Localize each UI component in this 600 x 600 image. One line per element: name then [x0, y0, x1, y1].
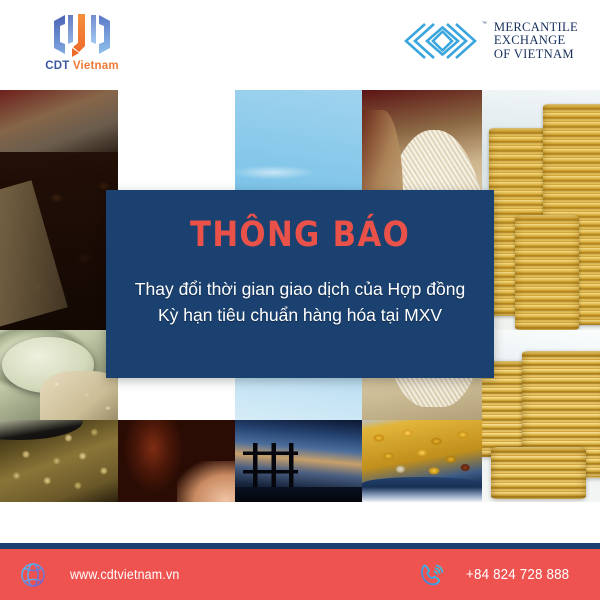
cdt-wordmark-primary: CDT	[45, 60, 69, 72]
poster-header: CDT Vietnam ™ MERCANTIL	[0, 0, 600, 90]
mxv-wordmark-line2: EXCHANGE	[494, 34, 578, 48]
phone-call-icon	[416, 560, 446, 590]
collage-column-1	[0, 90, 118, 502]
mxv-logo[interactable]: ™ MERCANTILE EXCHANGE OF VIETNAM	[403, 17, 578, 65]
announcement-poster: CDT Vietnam ™ MERCANTIL	[0, 0, 600, 600]
footer-phone[interactable]: +84 824 728 888	[416, 560, 578, 590]
corn-kernels-bowl-photo	[362, 420, 482, 502]
globe-icon	[18, 560, 48, 590]
announcement-title: THÔNG BÁO	[190, 216, 410, 254]
mxv-wordmark-line3: OF VIETNAM	[494, 48, 578, 62]
coffee-beans-photo	[0, 90, 118, 330]
announcement-box: THÔNG BÁO Thay đổi thời gian giao dịch c…	[106, 190, 494, 378]
poster-footer: www.cdtvietnam.vn +84 824 72	[0, 549, 600, 600]
footer-website[interactable]: www.cdtvietnam.vn	[18, 560, 189, 590]
gold-coins-stack-photo	[482, 330, 600, 502]
announcement-subtitle: Thay đổi thời gian giao dịch của Hợp đồn…	[120, 276, 480, 328]
mxv-wordmark: MERCANTILE EXCHANGE OF VIETNAM	[494, 21, 578, 62]
copper-tubes-dark-photo	[118, 420, 235, 502]
announcement-subtitle-line2: Kỳ hạn tiêu chuẩn hàng hóa tại MXV	[120, 302, 480, 328]
mxv-wordmark-line1: MERCANTILE	[494, 21, 578, 35]
cdt-hexagon-logo-icon	[49, 12, 115, 58]
soybeans-photo	[0, 420, 118, 502]
cdt-wordmark: CDT Vietnam	[27, 60, 137, 72]
collage-column-5	[482, 90, 600, 502]
cdt-vietnam-logo[interactable]: CDT Vietnam	[27, 12, 137, 78]
mxv-chevron-mark-icon	[403, 21, 481, 61]
footer-white-gap	[0, 502, 600, 543]
announcement-subtitle-line1: Thay đổi thời gian giao dịch của Hợp đồn…	[120, 276, 480, 302]
flour-and-grain-bowl-photo	[0, 330, 118, 420]
gold-coins-photo	[482, 90, 600, 330]
footer-phone-label: +84 824 728 888	[466, 567, 569, 583]
footer-website-label: www.cdtvietnam.vn	[70, 567, 179, 582]
trademark-symbol: ™	[482, 21, 487, 27]
cdt-wordmark-secondary: Vietnam	[73, 60, 119, 72]
oil-rig-silhouette-photo	[235, 420, 362, 502]
